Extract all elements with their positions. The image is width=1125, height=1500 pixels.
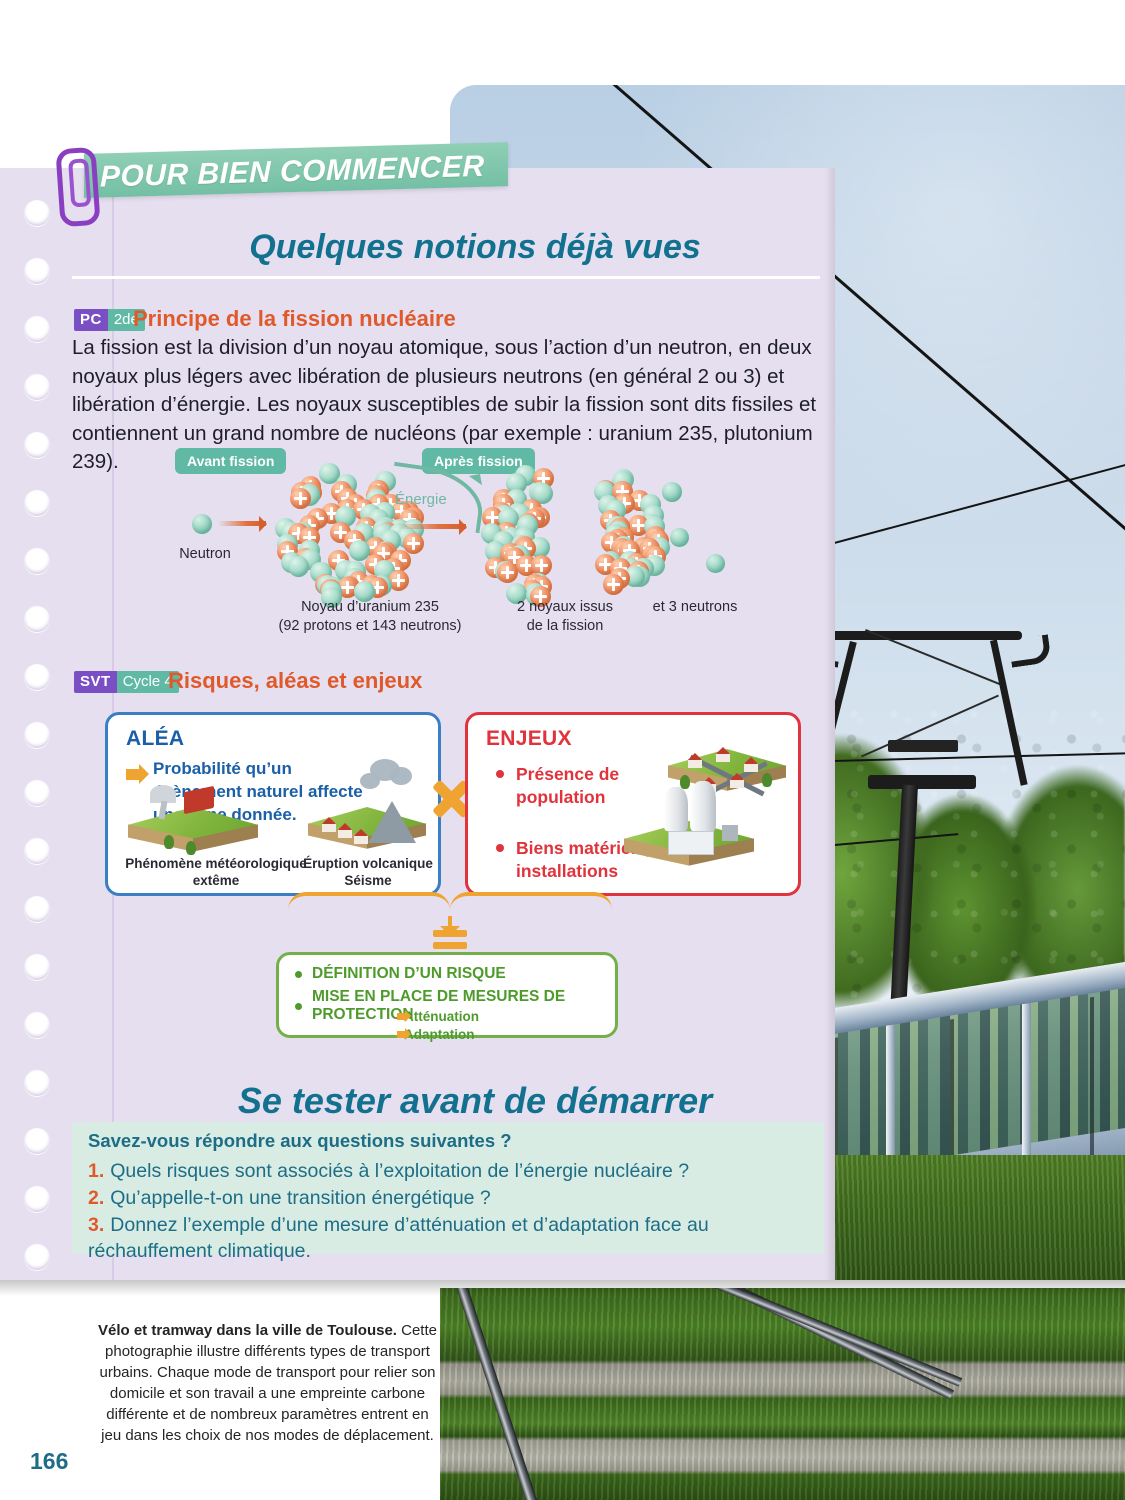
- binder-hole: [24, 490, 50, 516]
- cooling-tower: [690, 781, 716, 831]
- tree-icon: [186, 841, 196, 855]
- caption-volcan-line2: Séisme: [344, 873, 391, 888]
- caption-meteo-line2: extême: [193, 873, 240, 888]
- binder-hole: [24, 200, 50, 226]
- binder-hole: [24, 780, 50, 806]
- question-1: 1.Quels risques sont associés à l’exploi…: [88, 1158, 808, 1184]
- arrow-fission: [398, 524, 466, 529]
- binder-hole: [24, 1012, 50, 1038]
- binder-hole: [24, 838, 50, 864]
- debris-roof: [184, 786, 214, 814]
- photo-caption: Vélo et tramway dans la ville de Toulous…: [95, 1320, 440, 1446]
- arrow-neutron: [218, 521, 266, 526]
- binder-hole: [24, 1186, 50, 1212]
- incident-neutron: [192, 514, 212, 534]
- card-enjeux: ENJEUX Présence de population Biens maté…: [465, 712, 801, 896]
- page-title-tester: Se tester avant de démarrer: [130, 1080, 820, 1122]
- equals-icon: [433, 930, 467, 954]
- emitted-neutron: [670, 528, 689, 547]
- question-3-number: 3.: [88, 1214, 104, 1236]
- binder-hole: [24, 432, 50, 458]
- tree-icon: [762, 773, 772, 787]
- pantograph-base: [868, 775, 976, 789]
- house-icon: [322, 823, 336, 832]
- label-two-nuclei-line2: de la fission: [527, 618, 604, 634]
- caption-volcan: Éruption volcanique Séisme: [303, 855, 433, 889]
- badge-subject: SVT: [74, 671, 117, 693]
- house-icon: [744, 763, 758, 772]
- label-uranium-line2: (92 protons et 143 neutrons): [279, 618, 462, 634]
- proton: [603, 574, 624, 595]
- house-icon: [716, 753, 730, 762]
- emitted-neutron: [662, 482, 682, 502]
- tile-installations: [624, 821, 754, 883]
- question-2-text: Qu’appelle-t-on une transition énergétiq…: [110, 1187, 491, 1209]
- house-icon: [688, 759, 702, 768]
- fission-diagram: Avant fission Après fission Neutron Noya…: [150, 440, 790, 640]
- question-3: 3.Donnez l’exemple d’une mesure d’atténu…: [88, 1212, 808, 1264]
- cooling-tower: [664, 787, 688, 831]
- bullet-dot: [496, 770, 504, 778]
- photo-caption-bold: Vélo et tramway dans la ville de Toulous…: [98, 1322, 397, 1339]
- badge-svt-cycle4: SVT Cycle 4: [74, 671, 179, 693]
- caption-volcan-line1: Éruption volcanique: [303, 856, 433, 871]
- result-item-1-label: DÉFINITION D’UN RISQUE: [312, 965, 506, 983]
- page-title-notions: Quelques notions déjà vues: [130, 228, 820, 267]
- card-result: DÉFINITION D’UN RISQUE MISE EN PLACE DE …: [276, 952, 618, 1038]
- page-number: 166: [30, 1448, 68, 1475]
- bullet-dot: [496, 844, 504, 852]
- pantograph-bar: [822, 631, 1022, 640]
- grass-texture: [440, 1288, 1125, 1500]
- caption-meteo-line1: Phénomène météorologique: [125, 856, 307, 871]
- question-3-text: Donnez l’exemple d’une mesure d’atténuat…: [88, 1214, 709, 1262]
- pylon: [722, 825, 738, 841]
- smoke-puff: [360, 773, 380, 789]
- badge-subject: PC: [74, 309, 108, 331]
- binder-hole: [24, 1128, 50, 1154]
- title-divider: [72, 276, 820, 279]
- result-sub-1: Atténuation: [397, 1009, 479, 1024]
- emitted-neutron: [706, 554, 725, 573]
- label-uranium: Noyau d’uranium 235 (92 protons et 143 n…: [235, 598, 505, 636]
- binder-hole: [24, 374, 50, 400]
- binder-hole: [24, 548, 50, 574]
- paperclip-icon: [55, 147, 100, 228]
- self-test-lead: Savez-vous répondre aux questions suivan…: [88, 1130, 512, 1152]
- question-1-text: Quels risques sont associés à l’exploita…: [110, 1160, 689, 1182]
- question-2: 2.Qu’appelle-t-on une transition énergét…: [88, 1185, 808, 1211]
- tram-tracks-photo: [440, 1288, 1125, 1500]
- neutron: [288, 556, 309, 577]
- binder-hole: [24, 316, 50, 342]
- house-icon: [730, 779, 744, 788]
- binder-hole: [24, 722, 50, 748]
- heading-risques: Risques, aléas et enjeux: [168, 668, 422, 694]
- binder-hole: [24, 258, 50, 284]
- heading-fission: Principe de la fission nucléaire: [133, 306, 456, 332]
- result-item-1: DÉFINITION D’UN RISQUE: [295, 965, 506, 983]
- reactor-building: [668, 831, 714, 855]
- label-two-nuclei-line1: 2 noyaux issus: [517, 599, 613, 615]
- binder-hole: [24, 896, 50, 922]
- fission-fragment-right: [574, 464, 666, 606]
- label-two-nuclei: 2 noyaux issus de la fission: [490, 598, 640, 636]
- result-sub-2: Adaptation: [397, 1027, 475, 1042]
- card-alea: ALÉA Probabilité qu’un évènement naturel…: [105, 712, 441, 896]
- label-three-neutrons: et 3 neutrons: [630, 598, 760, 617]
- proton: [497, 562, 518, 583]
- pantograph-plate: [888, 740, 958, 752]
- tree-icon: [680, 775, 690, 789]
- question-2-number: 2.: [88, 1187, 104, 1209]
- bullet-dot: [295, 971, 302, 978]
- binder-hole: [24, 1244, 50, 1270]
- caption-meteo: Phénomène météorologique extême: [116, 855, 316, 889]
- proton: [290, 488, 311, 509]
- house-icon: [338, 829, 352, 838]
- house-icon: [354, 835, 368, 844]
- card-alea-title: ALÉA: [126, 727, 184, 751]
- binder-hole: [24, 954, 50, 980]
- label-neutron: Neutron: [160, 545, 250, 564]
- binder-hole: [24, 664, 50, 690]
- volcano-cone: [368, 801, 416, 843]
- bullet-dot: [295, 1003, 302, 1010]
- label-uranium-line1: Noyau d’uranium 235: [301, 599, 439, 615]
- binder-hole: [24, 606, 50, 632]
- photo-caption-rest: Cette photographie illustre différents t…: [99, 1322, 437, 1444]
- self-test-box: Savez-vous répondre aux questions suivan…: [72, 1122, 824, 1254]
- tree-icon: [164, 835, 174, 849]
- enjeux-item-2-line2: installations: [516, 861, 618, 881]
- panel-drop-shadow: [0, 1280, 1125, 1296]
- smoke-puff: [390, 767, 412, 785]
- binder-hole: [24, 1070, 50, 1096]
- question-1-number: 1.: [88, 1160, 104, 1182]
- card-enjeux-title: ENJEUX: [486, 727, 572, 751]
- fission-fragment-left: [482, 468, 574, 604]
